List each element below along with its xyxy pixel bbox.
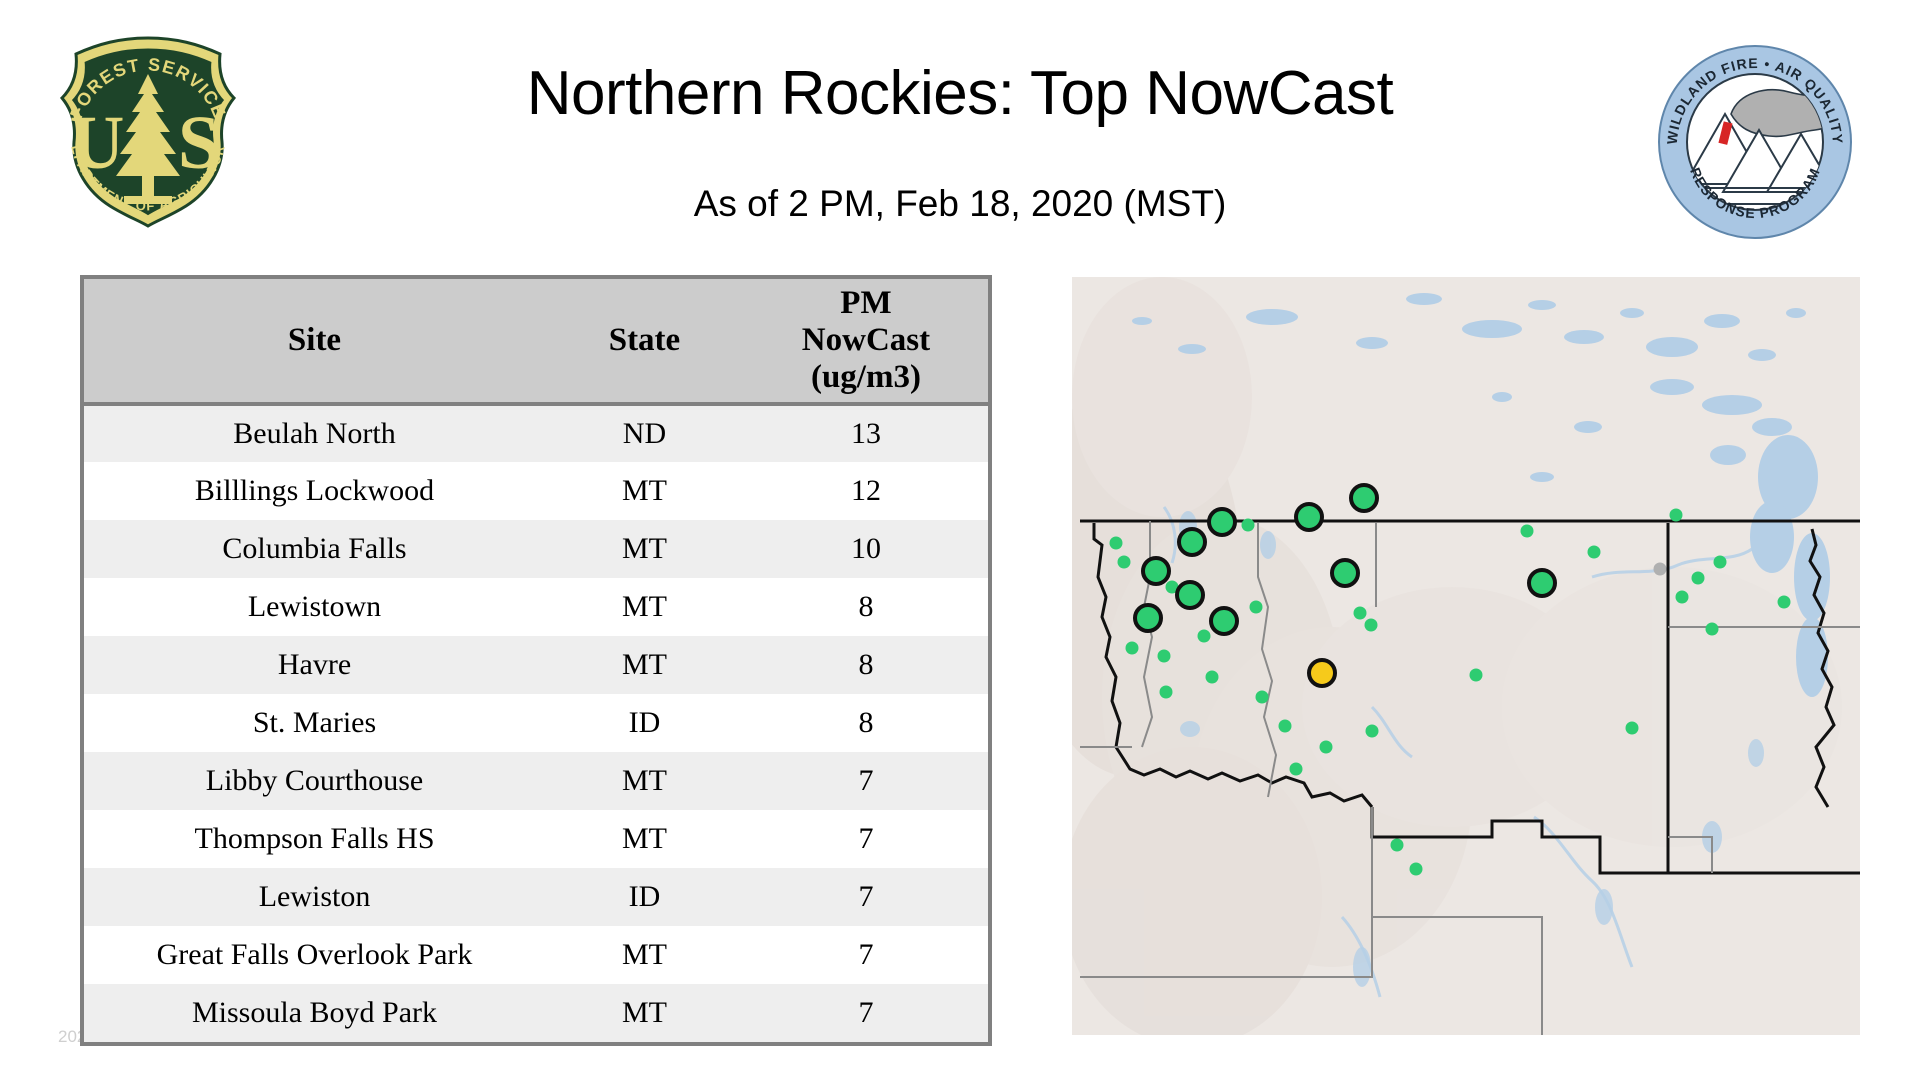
monitor-marker-small[interactable] — [1778, 596, 1791, 609]
wildland-fire-air-quality-response-program-logo: WILDLAND FIRE • AIR QUALITY RESPONSE PRO… — [1655, 42, 1855, 242]
site-cell: Beulah North — [84, 404, 545, 462]
monitor-marker-highlighted[interactable] — [1529, 570, 1555, 596]
state-cell: MT — [545, 636, 744, 694]
table-body: Beulah NorthND13Billlings LockwoodMT12Co… — [84, 404, 988, 1042]
state-cell: ID — [545, 868, 744, 926]
usfs-shield-logo: FOREST SERVICE U S DEPARTMENT OF AGRICUL… — [48, 28, 248, 228]
monitor-marker-small[interactable] — [1521, 525, 1534, 538]
monitor-marker-highlighted[interactable] — [1351, 485, 1377, 511]
state-cell: MT — [545, 578, 744, 636]
map-svg — [1072, 277, 1860, 1035]
site-cell: Great Falls Overlook Park — [84, 926, 545, 984]
monitor-marker-highlighted[interactable] — [1143, 558, 1169, 584]
state-cell: MT — [545, 810, 744, 868]
monitor-marker-small[interactable] — [1256, 691, 1269, 704]
state-cell: ND — [545, 404, 744, 462]
value-cell: 8 — [744, 636, 988, 694]
monitor-marker-highlighted[interactable] — [1309, 660, 1335, 686]
value-cell: 7 — [744, 984, 988, 1042]
column-header-state: State — [545, 279, 744, 404]
monitor-marker-small[interactable] — [1354, 607, 1367, 620]
northern-rockies-air-quality-map[interactable]: Air Quality Index HazardousVery Unhealth… — [1072, 277, 1860, 1035]
monitor-marker-small[interactable] — [1366, 725, 1379, 738]
state-cell: MT — [545, 926, 744, 984]
monitor-marker-highlighted[interactable] — [1209, 509, 1235, 535]
monitor-marker-small[interactable] — [1242, 519, 1255, 532]
slide-canvas: 2020-02-18 2 NoCast STS FOREST SERVICE U… — [0, 0, 1920, 1080]
column-header-pm-line1: PM — [840, 285, 891, 321]
state-cell: MT — [545, 752, 744, 810]
site-cell: Lewistown — [84, 578, 545, 636]
table-row: Great Falls Overlook ParkMT7 — [84, 926, 988, 984]
table-row: Columbia FallsMT10 — [84, 520, 988, 578]
column-header-pm-line2: NowCast — [802, 322, 930, 358]
value-cell: 7 — [744, 926, 988, 984]
table-header-row: Site State PM NowCast (ug/m3) — [84, 279, 988, 404]
monitor-marker-small[interactable] — [1588, 546, 1601, 559]
monitor-marker-small[interactable] — [1110, 537, 1123, 550]
value-cell: 8 — [744, 694, 988, 752]
state-cell: ID — [545, 694, 744, 752]
value-cell: 7 — [744, 868, 988, 926]
state-cell: MT — [545, 984, 744, 1042]
monitor-marker-highlighted[interactable] — [1135, 605, 1161, 631]
site-cell: Havre — [84, 636, 545, 694]
state-cell: MT — [545, 520, 744, 578]
monitor-marker-highlighted[interactable] — [1177, 582, 1203, 608]
monitor-marker-small[interactable] — [1470, 669, 1483, 682]
table-row: LewistonID7 — [84, 868, 988, 926]
monitor-marker-small[interactable] — [1654, 563, 1667, 576]
page-subtitle: As of 2 PM, Feb 18, 2020 (MST) — [300, 183, 1620, 225]
monitor-marker-highlighted[interactable] — [1211, 608, 1237, 634]
value-cell: 10 — [744, 520, 988, 578]
site-cell: Lewiston — [84, 868, 545, 926]
value-cell: 7 — [744, 752, 988, 810]
monitor-marker-small[interactable] — [1160, 686, 1173, 699]
site-cell: Billlings Lockwood — [84, 462, 545, 520]
monitor-marker-small[interactable] — [1158, 650, 1171, 663]
value-cell: 12 — [744, 462, 988, 520]
monitor-marker-highlighted[interactable] — [1179, 529, 1205, 555]
monitor-marker-small[interactable] — [1250, 601, 1263, 614]
monitor-marker-small[interactable] — [1391, 839, 1404, 852]
monitor-marker-small[interactable] — [1676, 591, 1689, 604]
site-cell: Libby Courthouse — [84, 752, 545, 810]
monitor-marker-small[interactable] — [1410, 863, 1423, 876]
monitor-marker-highlighted[interactable] — [1296, 504, 1322, 530]
table-row: Missoula Boyd ParkMT7 — [84, 984, 988, 1042]
monitor-marker-small[interactable] — [1626, 722, 1639, 735]
table-row: St. MariesID8 — [84, 694, 988, 752]
monitor-marker-small[interactable] — [1290, 763, 1303, 776]
site-cell: Thompson Falls HS — [84, 810, 545, 868]
table-row: Billlings LockwoodMT12 — [84, 462, 988, 520]
monitor-marker-small[interactable] — [1320, 741, 1333, 754]
value-cell: 8 — [744, 578, 988, 636]
table-row: Beulah NorthND13 — [84, 404, 988, 462]
monitor-marker-small[interactable] — [1670, 509, 1683, 522]
monitor-marker-small[interactable] — [1706, 623, 1719, 636]
site-cell: Missoula Boyd Park — [84, 984, 545, 1042]
page-title: Northern Rockies: Top NowCast — [300, 58, 1620, 129]
nowcast-table-container: Site State PM NowCast (ug/m3) Beulah Nor… — [80, 275, 992, 1046]
monitor-marker-small[interactable] — [1206, 671, 1219, 684]
table-row: Libby CourthouseMT7 — [84, 752, 988, 810]
column-header-pm-line3: (ug/m3) — [811, 359, 921, 395]
monitor-marker-small[interactable] — [1365, 619, 1378, 632]
column-header-site: Site — [84, 279, 545, 404]
monitor-marker-small[interactable] — [1198, 630, 1211, 643]
monitor-marker-highlighted[interactable] — [1332, 560, 1358, 586]
nowcast-table: Site State PM NowCast (ug/m3) Beulah Nor… — [84, 279, 988, 1042]
table-row: HavreMT8 — [84, 636, 988, 694]
value-cell: 7 — [744, 810, 988, 868]
monitor-marker-small[interactable] — [1714, 556, 1727, 569]
monitor-marker-small[interactable] — [1126, 642, 1139, 655]
monitor-marker-small[interactable] — [1279, 720, 1292, 733]
value-cell: 13 — [744, 404, 988, 462]
table-row: Thompson Falls HSMT7 — [84, 810, 988, 868]
monitor-marker-small[interactable] — [1118, 556, 1131, 569]
site-cell: Columbia Falls — [84, 520, 545, 578]
table-header: Site State PM NowCast (ug/m3) — [84, 279, 988, 404]
site-cell: St. Maries — [84, 694, 545, 752]
column-header-pm-nowcast: PM NowCast (ug/m3) — [744, 279, 988, 404]
monitor-marker-small[interactable] — [1692, 572, 1705, 585]
table-row: LewistownMT8 — [84, 578, 988, 636]
state-cell: MT — [545, 462, 744, 520]
